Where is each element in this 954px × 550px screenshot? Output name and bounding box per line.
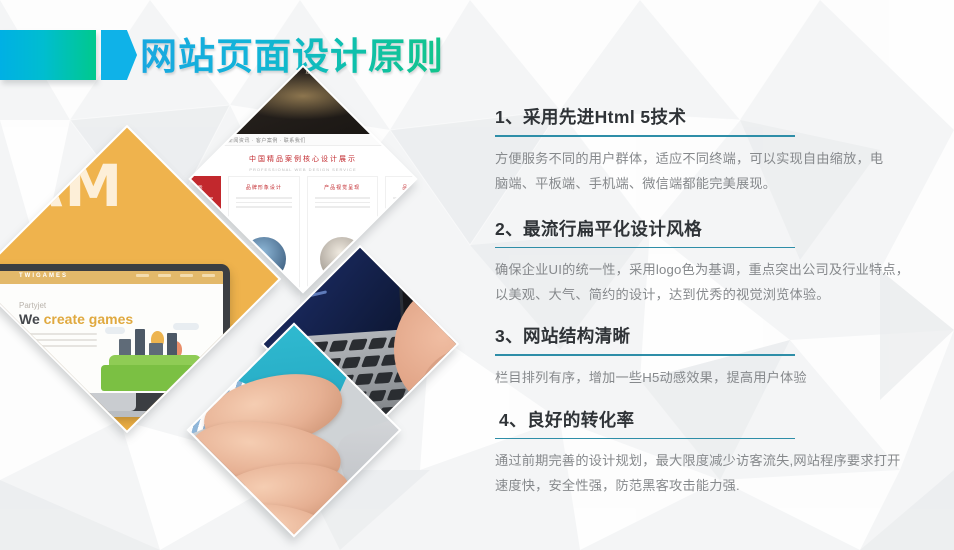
section-title: 1、采用先进Html 5技术 <box>495 104 940 130</box>
website-navbar: 网站首页 关于我们 · 产品中心 · 新闻资讯 · 客户案例 · 联系我们 <box>188 134 417 146</box>
section-underline <box>495 354 795 356</box>
section-title: 4、良好的转化率 <box>499 407 940 433</box>
site-paragraph-lines <box>19 333 97 351</box>
website-card[interactable]: 品牌推广服务 <box>385 176 418 290</box>
body-line: 栏目排列有序，增加一些H5动感效果，提高用户体验 <box>495 365 940 390</box>
banner-arrow-icon <box>101 30 137 80</box>
principle-section-2: 2、最流行扁平化设计风格 确保企业UI的统一性，采用logo色为基调，重点突出公… <box>488 216 940 308</box>
imac-screen: TWIGAMES Partyjet We create games <box>0 271 223 393</box>
card-title: 品牌推广服务 <box>386 184 418 191</box>
card-title: 品牌形象设计 <box>229 184 298 191</box>
imac-stand <box>84 393 136 411</box>
site-eyebrow: Partyjet <box>19 301 46 310</box>
site-navbar: TWIGAMES <box>0 271 223 284</box>
slide-root: 网站页面设计原则 GAM TWIGAMES <box>0 0 954 550</box>
section-underline <box>495 438 795 440</box>
section-body: 方便服务不同的用户群体，适应不同终端，可以实现自由缩放，电 脑端、平板端、手机端… <box>495 146 940 196</box>
imac-foot <box>62 411 158 417</box>
body-line: 方便服务不同的用户群体，适应不同终端，可以实现自由缩放，电 <box>495 146 940 171</box>
card-thumb <box>398 237 417 281</box>
section-body: 确保企业UI的统一性，采用logo色为基调，重点突出公司及行业特点， 以美观、大… <box>495 257 940 307</box>
headline-we: We <box>19 311 40 327</box>
principle-section-1: 1、采用先进Html 5技术 方便服务不同的用户群体，适应不同终端，可以实现自由… <box>488 104 940 196</box>
site-nav-items <box>136 274 215 277</box>
nav-items[interactable]: 关于我们 · 产品中心 · 新闻资讯 · 客户案例 · 联系我们 <box>188 137 305 144</box>
image-collage: GAM TWIGAMES Partyjet We create games <box>0 92 470 512</box>
site-cta-button[interactable] <box>19 359 53 370</box>
section-title: 3、网站结构清晰 <box>495 323 940 349</box>
site-illustration <box>95 321 215 393</box>
website-section-subtitle: PROFESSIONAL WEB DESIGN SERVICE <box>188 167 417 172</box>
body-line: 脑端、平板端、手机端、微信端都能完美展现。 <box>495 171 940 196</box>
principle-section-3: 3、网站结构清晰 栏目排列有序，增加一些H5动感效果，提高用户体验 <box>488 323 940 390</box>
body-line: 速度快，安全性强，防范黑客攻击能力强. <box>495 473 940 498</box>
banner-gradient-bar <box>0 30 96 80</box>
imac-mockup: TWIGAMES Partyjet We create games <box>0 264 230 414</box>
section-body: 通过前期完善的设计规划，最大限度减少访客流失,网站程序要求打开 速度快，安全性强… <box>495 448 940 498</box>
principles-list: 1、采用先进Html 5技术 方便服务不同的用户群体，适应不同终端，可以实现自由… <box>488 104 940 498</box>
principle-section-4: 4、良好的转化率 通过前期完善的设计规划，最大限度减少访客流失,网站程序要求打开… <box>488 407 940 499</box>
body-line: 通过前期完善的设计规划，最大限度减少访客流失,网站程序要求打开 <box>495 448 940 473</box>
section-title: 2、最流行扁平化设计风格 <box>495 216 940 242</box>
site-brand: TWIGAMES <box>19 273 68 279</box>
section-body: 栏目排列有序，增加一些H5动感效果，提高用户体验 <box>495 365 940 390</box>
card-title: 核心优势展示 <box>188 184 220 191</box>
section-underline <box>495 135 795 137</box>
title-banner: 网站页面设计原则 <box>0 28 420 86</box>
body-line: 以美观、大气、简约的设计，达到优秀的视觉浏览体验。 <box>495 282 940 307</box>
section-underline <box>495 247 795 249</box>
card-title: 产品视觉呈现 <box>308 184 377 191</box>
body-line: 确保企业UI的统一性，采用logo色为基调，重点突出公司及行业特点， <box>495 257 940 282</box>
website-section-title: 中国精品案例核心设计展示PROFESSIONAL WEB DESIGN SERV… <box>188 154 417 172</box>
